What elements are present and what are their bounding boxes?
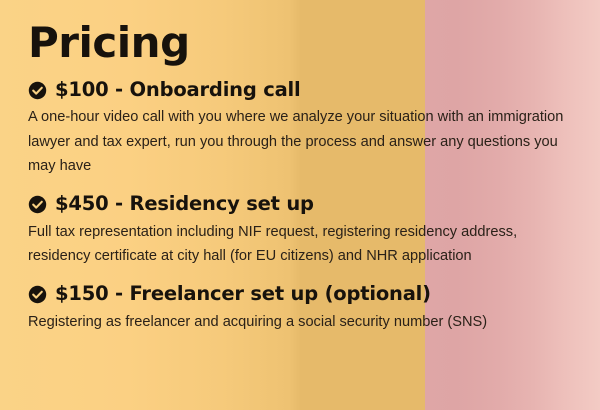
- slide-content: Pricing $100 - Onboarding call A one-hou…: [0, 0, 600, 334]
- pricing-item-title: $150 - Freelancer set up (optional): [55, 283, 431, 306]
- check-circle-icon: [28, 285, 47, 304]
- pricing-item-description: A one-hour video call with you where we …: [28, 105, 568, 178]
- pricing-item-description: Registering as freelancer and acquiring …: [28, 310, 568, 334]
- pricing-item-heading: $450 - Residency set up: [28, 193, 574, 216]
- pricing-item-heading: $100 - Onboarding call: [28, 79, 574, 102]
- check-circle-icon: [28, 81, 47, 100]
- pricing-item: $100 - Onboarding call A one-hour video …: [28, 79, 574, 178]
- pricing-slide: Pricing $100 - Onboarding call A one-hou…: [0, 0, 600, 410]
- check-circle-icon: [28, 195, 47, 214]
- pricing-item-heading: $150 - Freelancer set up (optional): [28, 283, 574, 306]
- page-title: Pricing: [28, 22, 574, 65]
- pricing-item-title: $450 - Residency set up: [55, 193, 314, 216]
- pricing-item-title: $100 - Onboarding call: [55, 79, 301, 102]
- pricing-item: $450 - Residency set up Full tax represe…: [28, 193, 574, 268]
- pricing-item: $150 - Freelancer set up (optional) Regi…: [28, 283, 574, 334]
- pricing-item-description: Full tax representation including NIF re…: [28, 220, 568, 268]
